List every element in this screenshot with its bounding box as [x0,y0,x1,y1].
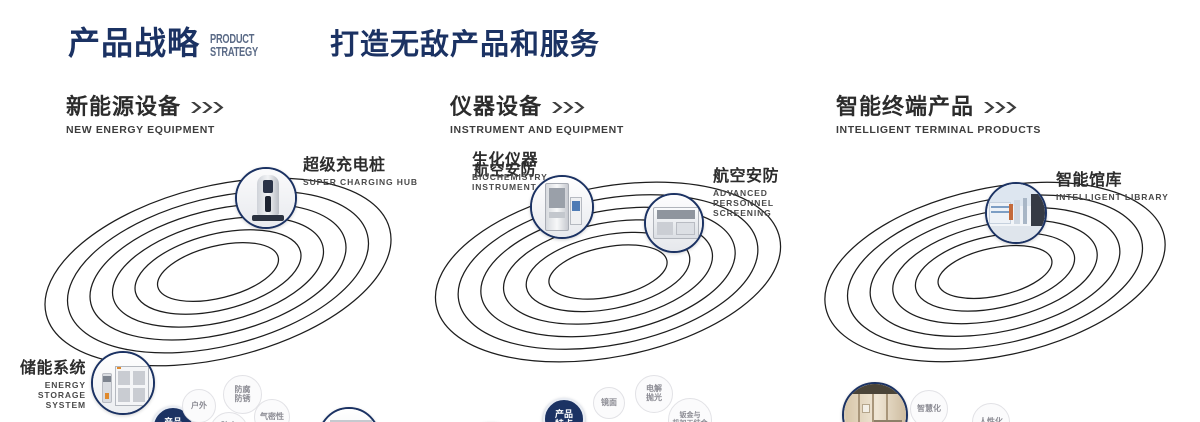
product-caption-en: INTELLIGENT LIBRARY [1056,192,1169,202]
section-title-cn-text: 仪器设备 [450,95,542,119]
personnel-screening-photo [646,195,702,251]
section-title-cn: 新能源设备 [66,95,227,119]
product-caption-cn: 生化仪器 [472,152,564,170]
feature-bubble-mirror[interactable]: 镜面 [593,387,625,419]
pv-inverter-cabinet-photo [320,409,378,422]
page-title-en-line2: STRATEGY [210,46,258,59]
compact-shelf-photo [844,384,906,422]
product-bubble-energy-storage[interactable] [91,351,155,415]
product-bubble-smart-library[interactable] [985,182,1047,244]
chevrons-right-icon [552,101,588,114]
section-title-cn: 仪器设备 [450,95,624,119]
section-title-en: INSTRUMENT AND EQUIPMENT [450,124,624,136]
page-title-en-line1: PRODUCT [210,33,258,46]
feature-bubble-electropolish[interactable]: 电解抛光 [635,375,673,413]
section-title-cn: 智能终端产品 [836,95,1041,119]
product-bubble-compact-shelf[interactable] [842,382,908,422]
chevrons-right-icon [191,101,227,114]
page-title-cn: 产品战略 [68,26,200,60]
orbit-group-intelligent-terminal: 智慧化 数字化 人性化 产品 特点 智能馆库 I [790,150,1200,395]
smart-library-photo [987,184,1045,242]
section-title-en: NEW ENERGY EQUIPMENT [66,124,227,136]
section-title-cn-text: 新能源设备 [66,95,181,119]
section-title-en: INTELLIGENT TERMINAL PRODUCTS [836,124,1041,136]
product-bubble-charging-hub[interactable] [235,167,297,229]
orbit-group-new-energy: 产品 特点 户外 防腐防锈 防水防尘 气密性 [0,150,420,395]
energy-storage-cabinet-photo [93,353,153,413]
product-caption-energy-storage: 储能系统 ENERGY STORAGE SYSTEM [0,360,86,410]
feature-bubble-outdoor[interactable]: 户外 [182,389,216,422]
section-title-cn-text: 智能终端产品 [836,95,974,119]
feature-bubble-sheetmetal-machining[interactable]: 钣金与机加工结合 [668,398,712,422]
chevrons-right-icon [984,101,1020,114]
section-head-intelligent-terminal: 智能终端产品 INTELLIGENT TERMINAL PRODUCTS [836,95,1041,136]
section-head-new-energy: 新能源设备 NEW ENERGY EQUIPMENT [66,95,227,136]
product-caption-biochemistry-main: 生化仪器 BIOCHEMISTRY INSTRUMENT [472,152,564,192]
product-bubble-personnel-screening[interactable] [644,193,704,253]
feature-bubble-intelligent[interactable]: 智慧化 [910,390,948,422]
product-bubble-pv-inverter[interactable] [318,407,380,422]
section-head-instrument: 仪器设备 INSTRUMENT AND EQUIPMENT [450,95,624,136]
page-title: 产品战略 PRODUCT STRATEGY [68,26,275,60]
product-caption-en: BIOCHEMISTRY INSTRUMENT [472,172,564,192]
core-bubble-line1: 产品 [555,409,573,419]
product-caption-cn: 智能馆库 [1056,172,1169,190]
orbit-group-instrument: 产品 特点 镜面 电解抛光 钣金与机加工结合 零缺陷 航空安防 生化仪器 [400,150,820,395]
page-title-en: PRODUCT STRATEGY [210,33,258,58]
page-tagline: 打造无敌产品和服务 [330,28,600,62]
feature-bubble-airtight[interactable]: 气密性 [254,399,290,422]
product-caption-en: ENERGY STORAGE SYSTEM [0,380,86,410]
ev-charging-pile-photo [237,169,295,227]
product-caption-cn: 储能系统 [0,360,86,378]
core-bubble-line1: 产品 [164,417,182,422]
core-bubble-product-features[interactable]: 产品 特点 [543,398,585,422]
product-strategy-infographic: 产品战略 PRODUCT STRATEGY 打造无敌产品和服务 新能源设备 NE… [0,0,1200,422]
product-caption-smart-library: 智能馆库 INTELLIGENT LIBRARY [1056,172,1169,202]
feature-bubble-humanized[interactable]: 人性化 [972,403,1010,422]
